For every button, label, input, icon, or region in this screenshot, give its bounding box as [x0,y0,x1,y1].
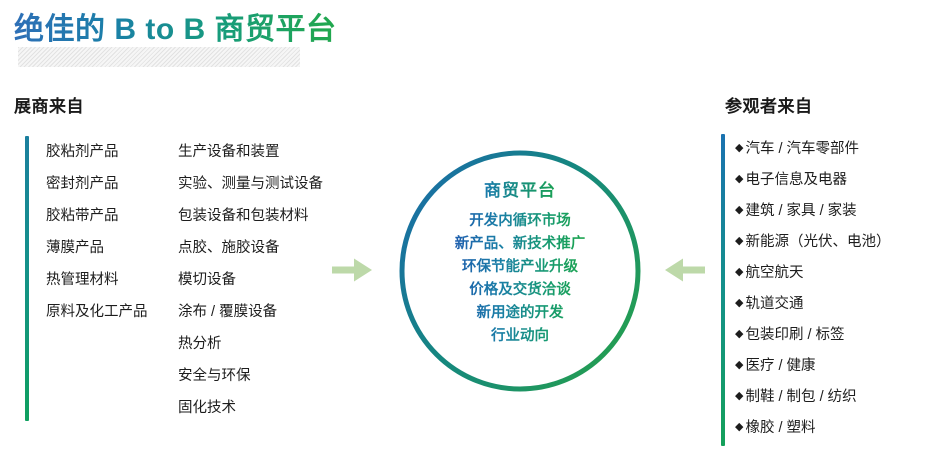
list-item-label: 点胶、施胶设备 [178,241,280,256]
center-circle-title: 商贸平台 [484,176,556,201]
list-item: 开发内循环市场 [455,210,586,233]
list-item: ◆橡胶 / 塑料 [735,413,890,444]
list-item: 胶粘带产品 [46,200,148,232]
diamond-bullet-icon: ◆ [735,422,743,433]
diamond-bullet-icon: ◆ [735,205,743,216]
list-item-label: 航空航天 [745,266,803,281]
list-item: ◆新能源（光伏、电池） [735,227,890,258]
diamond-bullet-icon: ◆ [735,360,743,371]
list-item-label: 包装设备和包装材料 [178,209,309,224]
list-item-label: 热分析 [178,337,222,352]
list-item: 密封剂产品 [46,168,148,200]
list-item-label: 生产设备和装置 [178,145,280,160]
list-item-label: 原料及化工产品 [46,305,148,320]
list-item: ◆轨道交通 [735,289,890,320]
visitors-heading: 参观者来自 [725,92,813,117]
page-title: 绝佳的 B to B 商贸平台 [14,4,337,48]
list-item: 实验、测量与测试设备 [178,168,323,200]
list-item-label: 固化技术 [178,401,236,416]
list-item: 热管理材料 [46,264,148,296]
diamond-bullet-icon: ◆ [735,329,743,340]
exhibitors-accent-bar [25,136,29,421]
list-item-label: 汽车 / 汽车零部件 [745,142,859,157]
list-item: ◆电子信息及电器 [735,165,890,196]
list-item: 固化技术 [178,392,323,424]
list-item: 热分析 [178,328,323,360]
list-item-label: 模切设备 [178,273,236,288]
list-item: ◆航空航天 [735,258,890,289]
list-item-label: 涂布 / 覆膜设备 [178,305,277,320]
diamond-bullet-icon: ◆ [735,391,743,402]
diamond-bullet-icon: ◆ [735,143,743,154]
list-item-label: 包装印刷 / 标签 [745,328,844,343]
list-item: 胶粘剂产品 [46,136,148,168]
diamond-bullet-icon: ◆ [735,267,743,278]
list-item-label: 安全与环保 [178,369,251,384]
list-item-label: 电子信息及电器 [745,173,847,188]
list-item-label: 胶粘带产品 [46,209,119,224]
list-item-label: 胶粘剂产品 [46,145,119,160]
center-circle-lines: 开发内循环市场 新产品、新技术推广 环保节能产业升级 价格及交货洽谈 新用途的开… [455,210,586,348]
list-item: 新产品、新技术推广 [455,233,586,256]
list-item-label: 橡胶 / 塑料 [745,421,815,436]
list-item: 点胶、施胶设备 [178,232,323,264]
visitors-accent-bar [721,134,725,446]
list-item: 包装设备和包装材料 [178,200,323,232]
list-item-label: 新能源（光伏、电池） [745,235,890,250]
arrow-right-icon [330,255,374,285]
list-item: 价格及交货洽谈 [455,279,586,302]
list-item: 新用途的开发 [455,302,586,325]
arrow-left-icon [663,255,707,285]
list-item-label: 薄膜产品 [46,241,104,256]
exhibitors-heading: 展商来自 [14,92,84,117]
list-item-label: 制鞋 / 制包 / 纺织 [745,390,856,405]
list-item: 模切设备 [178,264,323,296]
list-item-label: 建筑 / 家具 / 家装 [745,204,856,219]
diamond-bullet-icon: ◆ [735,298,743,309]
center-circle-content: 商贸平台 开发内循环市场 新产品、新技术推广 环保节能产业升级 价格及交货洽谈 … [397,148,643,394]
hatched-divider-bar [18,47,300,67]
exhibitors-column-one: 胶粘剂产品 密封剂产品 胶粘带产品 薄膜产品 热管理材料 原料及化工产品 [46,136,148,328]
visitors-list: ◆汽车 / 汽车零部件 ◆电子信息及电器 ◆建筑 / 家具 / 家装 ◆新能源（… [735,134,890,444]
slide-root: 绝佳的 B to B 商贸平台 展商来自 参观者来自 胶粘剂产品 密封剂产品 胶… [0,0,944,449]
list-item-label: 密封剂产品 [46,177,119,192]
diamond-bullet-icon: ◆ [735,236,743,247]
center-circle: 商贸平台 开发内循环市场 新产品、新技术推广 环保节能产业升级 价格及交货洽谈 … [397,148,643,394]
list-item: ◆汽车 / 汽车零部件 [735,134,890,165]
list-item: 行业动向 [455,325,586,348]
list-item: 安全与环保 [178,360,323,392]
list-item: 原料及化工产品 [46,296,148,328]
list-item-label: 医疗 / 健康 [745,359,815,374]
list-item: 环保节能产业升级 [455,256,586,279]
exhibitors-column-two: 生产设备和装置 实验、测量与测试设备 包装设备和包装材料 点胶、施胶设备 模切设… [178,136,323,424]
list-item: ◆建筑 / 家具 / 家装 [735,196,890,227]
list-item-label: 轨道交通 [745,297,803,312]
list-item-label: 热管理材料 [46,273,119,288]
list-item: 涂布 / 覆膜设备 [178,296,323,328]
list-item-label: 实验、测量与测试设备 [178,177,323,192]
list-item: ◆制鞋 / 制包 / 纺织 [735,382,890,413]
list-item: ◆医疗 / 健康 [735,351,890,382]
list-item: 生产设备和装置 [178,136,323,168]
diamond-bullet-icon: ◆ [735,174,743,185]
list-item: 薄膜产品 [46,232,148,264]
list-item: ◆包装印刷 / 标签 [735,320,890,351]
